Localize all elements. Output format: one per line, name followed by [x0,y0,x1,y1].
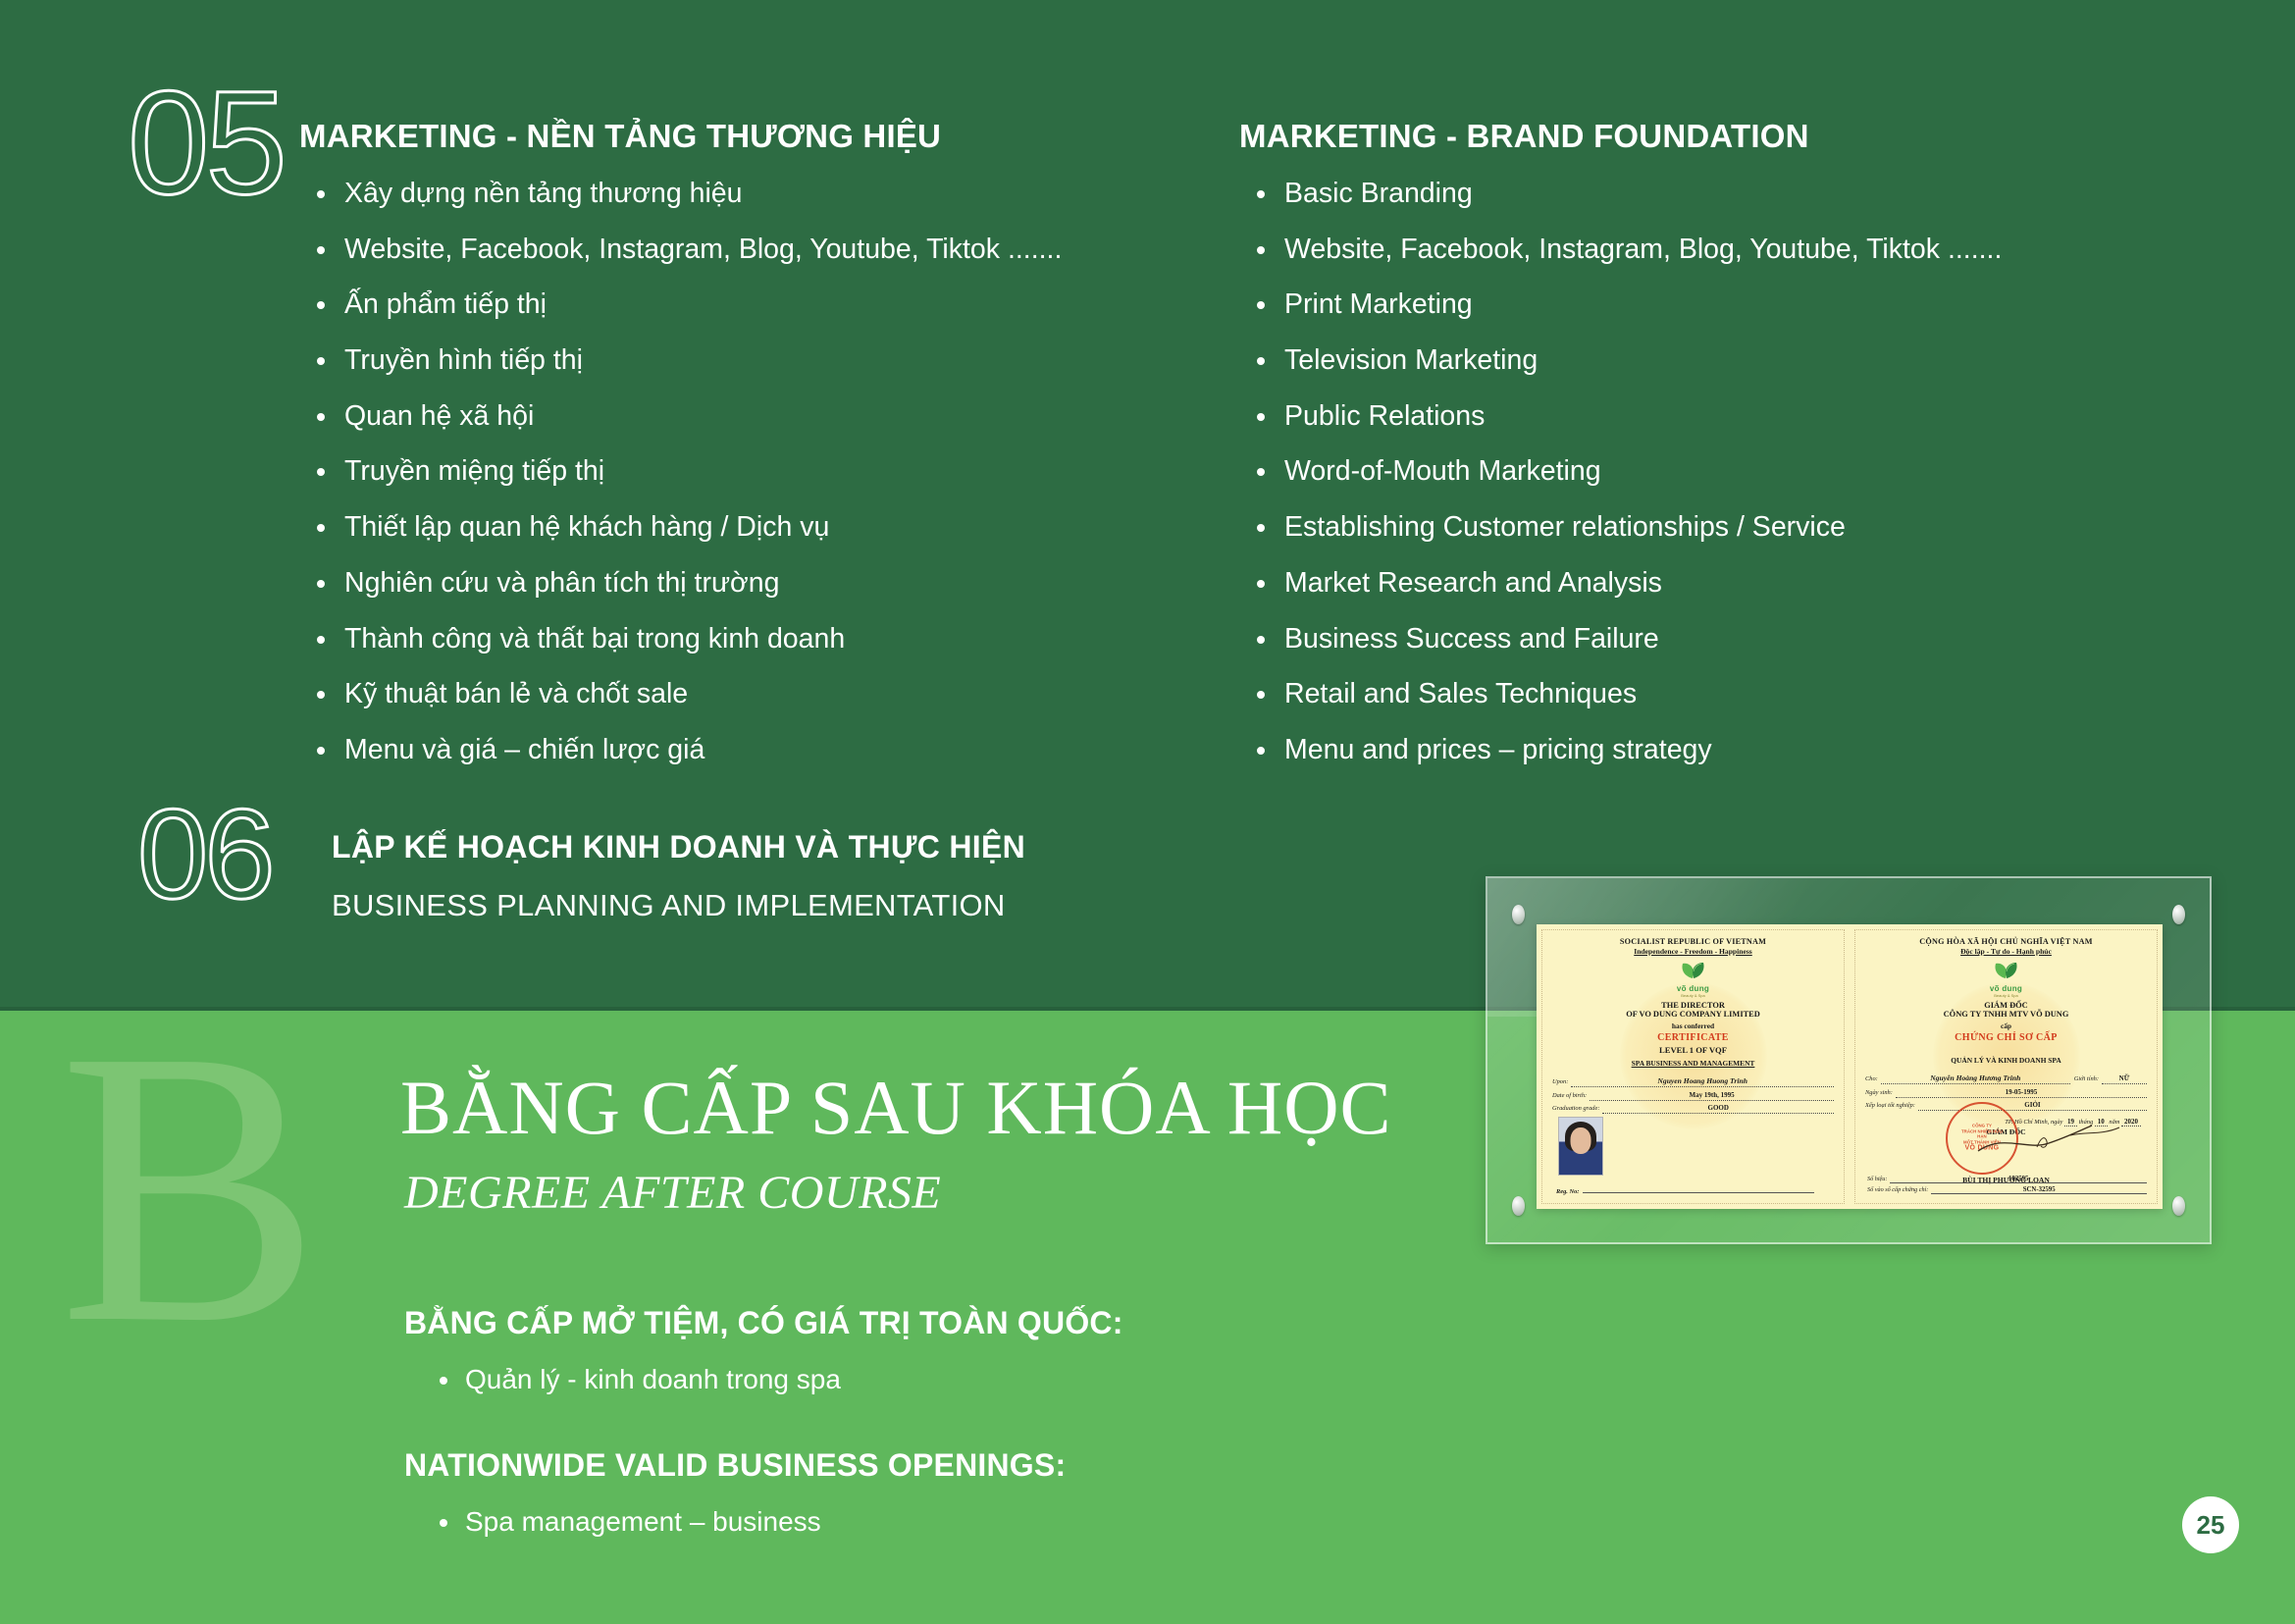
field-value: SCN-32595 [1931,1186,2147,1194]
cert-field-row: Số hiệu: 182595 [1867,1176,2147,1183]
certificate-vietnamese-half: CỘNG HÒA XÃ HỘI CHỦ NGHĨA VIỆT NAM Độc l… [1854,929,2158,1204]
field-value: NỮ [2102,1074,2147,1084]
field-label: Ngày sinh: [1865,1089,1893,1096]
list-item: Market Research and Analysis [1239,566,2240,600]
list-item: Truyền miệng tiếp thị [299,454,1241,488]
field-value: GOOD [1602,1104,1834,1114]
cert-en-nation: SOCIALIST REPUBLIC OF VIETNAM [1552,937,1834,946]
stamp-line-4: VÕ DUNG [1960,1145,2004,1154]
list-item: Menu và giá – chiến lược giá [299,733,1241,766]
cert-vi-motto: Độc lập - Tự do - Hạnh phúc [1865,947,2147,956]
place-month: 10 [2095,1118,2108,1126]
list-item: Thiết lập quan hệ khách hàng / Dịch vụ [299,510,1241,544]
frame-screw-icon [2172,905,2185,924]
place-day: 19 [2064,1118,2077,1126]
cert-en-company: OF VO DUNG COMPANY LIMITED [1552,1010,1834,1019]
section-06-title-vi: LẬP KẾ HOẠCH KINH DOANH VÀ THỰC HIỆN [332,829,1025,865]
cert-en-motto: Independence - Freedom - Happiness [1552,947,1834,956]
section-05-en-list: Basic Branding Website, Facebook, Instag… [1239,177,2240,766]
cert-en-conferred: has conferred [1552,1022,1834,1030]
cert-field-row: Upon: Nguyen Hoang Huong Trinh [1552,1076,1834,1087]
field-underline [1583,1192,1814,1193]
list-item: Xây dựng nền tảng thương hiệu [299,177,1241,210]
logo-wordmark: võ dung [1865,984,2147,993]
cert-vi-company: CÔNG TY TNHH MTV VÕ DUNG [1865,1010,2147,1019]
field-label: Date of birth: [1552,1092,1587,1099]
cert-vi-director: GIÁM ĐỐC [1865,1001,2147,1010]
watermark-letter-b: B [59,991,321,1384]
cert-en-director: THE DIRECTOR [1552,1001,1834,1010]
cert-en-field: SPA BUSINESS AND MANAGEMENT [1552,1059,1834,1068]
field-label: Giới tính: [2074,1075,2099,1082]
frame-screw-icon [1512,1196,1525,1216]
list-item: Print Marketing [1239,288,2240,321]
cert-field-row: Cho: Nguyễn Hoàng Hương Trinh Giới tính:… [1865,1074,2147,1084]
cert-field-row: Graduation grade: GOOD [1552,1104,1834,1114]
degree-heading-vi: BẰNG CẤP MỞ TIỆM, CÓ GIÁ TRỊ TOÀN QUỐC: [404,1305,1123,1341]
cert-en-certificate-word: CERTIFICATE [1552,1032,1834,1043]
cert-field-row: Số vào sổ cấp chứng chỉ: SCN-32595 [1867,1186,2147,1194]
cert-en-fields: Upon: Nguyen Hoang Huong Trinh Date of b… [1552,1076,1834,1114]
cert-vi-field: QUẢN LÝ VÀ KINH DOANH SPA [1865,1056,2147,1065]
cert-vi-conferred: cấp [1865,1022,2147,1030]
list-item: Public Relations [1239,399,2240,433]
cert-vi-nation: CỘNG HÒA XÃ HỘI CHỦ NGHĨA VIỆT NAM [1865,937,2147,946]
list-item: Thành công và thất bại trong kinh doanh [299,622,1241,655]
section-number-06: 06 [137,790,272,917]
list-item: Website, Facebook, Instagram, Blog, Yout… [1239,233,2240,266]
field-label: Reg. No: [1556,1188,1579,1195]
section-05-en-title: MARKETING - BRAND FOUNDATION [1239,118,2240,155]
list-item: Establishing Customer relationships / Se… [1239,510,2240,544]
frame-screw-icon [2172,1196,2185,1216]
place-month-label: tháng [2079,1119,2094,1126]
list-item: Spa management – business [422,1506,821,1538]
cert-vi-certificate-word: CHỨNG CHỈ SƠ CẤP [1865,1032,2147,1043]
section-05-vi-list: Xây dựng nền tảng thương hiệu Website, F… [299,177,1241,766]
list-item: Ấn phẩm tiếp thị [299,288,1241,321]
cert-field-row: Xếp loại tốt nghiệp: GIỎI [1865,1101,2147,1111]
field-value: Nguyễn Hoàng Hương Trinh [1881,1074,2070,1084]
photo-face [1571,1127,1591,1154]
field-label: Upon: [1552,1078,1568,1085]
cert-vi-fields: Cho: Nguyễn Hoàng Hương Trinh Giới tính:… [1865,1074,2147,1111]
degree-list-vi: Quản lý - kinh doanh trong spa [422,1364,841,1395]
list-item: Quản lý - kinh doanh trong spa [422,1364,841,1395]
cert-en-level: LEVEL 1 OF VQF [1552,1045,1834,1055]
section-06-title-en: BUSINESS PLANNING AND IMPLEMENTATION [332,888,1006,923]
cert-vi-bottom-rows: Số hiệu: 182595 Số vào sổ cấp chứng chỉ:… [1867,1176,2147,1197]
stamp-text: CÔNG TY TRÁCH NHIỆM HỮU HẠN MỘT THÀNH VI… [1960,1124,2004,1154]
leaf-icon [1677,960,1710,979]
list-item: Nghiên cứu và phân tích thị trường [299,566,1241,600]
section-05-vi-title: MARKETING - NỀN TẢNG THƯƠNG HIỆU [299,118,1241,155]
list-item: Quan hệ xã hội [299,399,1241,433]
field-label: Số vào sổ cấp chứng chỉ: [1867,1186,1928,1193]
logo-tagline: Beauty & Spa [1865,993,2147,998]
certificate-english-half: SOCIALIST REPUBLIC OF VIETNAM Independen… [1541,929,1845,1204]
field-label: Cho: [1865,1075,1878,1082]
field-value: 182595 [1890,1176,2147,1183]
logo-wordmark: võ dung [1552,984,1834,993]
field-value: Nguyen Hoang Huong Trinh [1571,1076,1834,1087]
field-value: GIỎI [1918,1101,2147,1111]
list-item: Website, Facebook, Instagram, Blog, Yout… [299,233,1241,266]
degree-title-vi: BẰNG CẤP SAU KHÓA HỌC [400,1064,1392,1152]
cert-field-row: Ngày sinh: 19-05-1995 [1865,1088,2147,1098]
list-item: Basic Branding [1239,177,2240,210]
list-item: Kỹ thuật bán lẻ và chốt sale [299,677,1241,710]
place-year: 2020 [2121,1118,2141,1126]
degree-title-en: DEGREE AFTER COURSE [404,1166,941,1220]
list-item: Business Success and Failure [1239,622,2240,655]
field-label: Xếp loại tốt nghiệp: [1865,1102,1915,1109]
logo-tagline: Beauty & Spa [1552,993,1834,998]
list-item: Television Marketing [1239,343,2240,377]
page-number-badge: 25 [2182,1496,2239,1553]
leaf-icon [1990,960,2023,979]
field-value: May 19th, 1995 [1590,1091,1834,1101]
frame-screw-icon [1512,905,1525,924]
section-05-english-column: MARKETING - BRAND FOUNDATION Basic Brand… [1239,118,2240,789]
brochure-page: B 05 MARKETING - NỀN TẢNG THƯƠNG HIỆU Xâ… [0,0,2295,1624]
section-number-05: 05 [128,69,284,216]
vo-dung-logo: võ dung Beauty & Spa [1552,960,1834,998]
section-05-vietnamese-column: MARKETING - NỀN TẢNG THƯƠNG HIỆU Xây dựn… [299,118,1241,789]
stamp-line-2: TRÁCH NHIỆM HỮU HẠN [1960,1128,2004,1139]
field-value: 19-05-1995 [1896,1088,2147,1098]
company-stamp: CÔNG TY TRÁCH NHIỆM HỮU HẠN MỘT THÀNH VI… [1946,1102,2018,1175]
cert-field-row: Date of birth: May 19th, 1995 [1552,1091,1834,1101]
vo-dung-logo: võ dung Beauty & Spa [1865,960,2147,998]
certificate-document: SOCIALIST REPUBLIC OF VIETNAM Independen… [1537,924,2163,1209]
list-item: Retail and Sales Techniques [1239,677,2240,710]
degree-heading-en: NATIONWIDE VALID BUSINESS OPENINGS: [404,1447,1066,1484]
degree-list-en: Spa management – business [422,1506,821,1538]
field-label: Graduation grade: [1552,1105,1599,1112]
list-item: Menu and prices – pricing strategy [1239,733,2240,766]
list-item: Word-of-Mouth Marketing [1239,454,2240,488]
field-label: Số hiệu: [1867,1176,1887,1182]
place-year-label: năm [2109,1119,2119,1126]
list-item: Truyền hình tiếp thị [299,343,1241,377]
cert-en-regno-row: Reg. No: [1556,1188,1814,1195]
student-photo [1558,1117,1603,1176]
